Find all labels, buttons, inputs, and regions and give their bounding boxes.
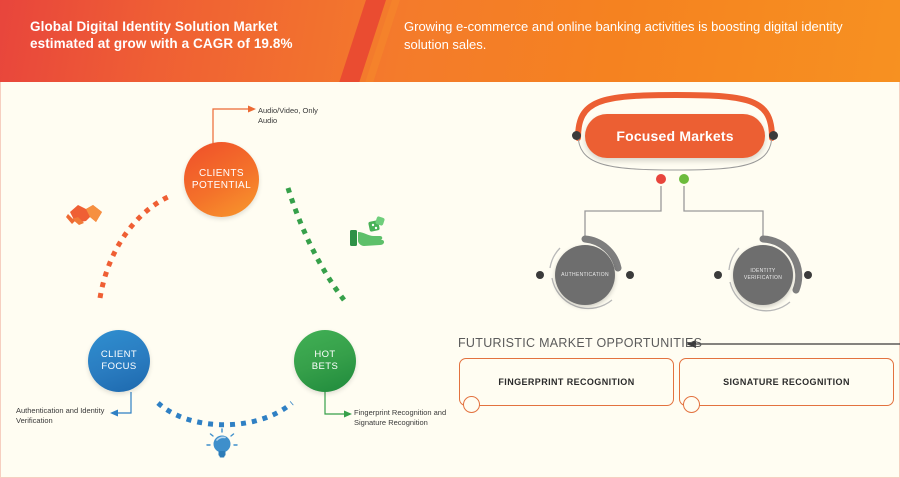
node-hot-bets[interactable]: HOT BETS bbox=[294, 330, 356, 392]
handshake-icon bbox=[66, 205, 102, 225]
orange-dotted-arc bbox=[100, 196, 170, 298]
futuristic-knob-signature bbox=[683, 396, 700, 413]
futuristic-arrow bbox=[686, 340, 900, 348]
node-client-focus-line1: CLIENT bbox=[101, 349, 137, 361]
red-dot bbox=[656, 174, 666, 184]
futuristic-title: FUTURISTIC MARKET OPPORTUNITIES bbox=[458, 336, 702, 350]
green-dot bbox=[679, 174, 689, 184]
node-hot-bets-line1: HOT bbox=[312, 349, 338, 361]
futuristic-box-fingerprint[interactable]: FINGERPRINT RECOGNITION bbox=[459, 358, 674, 406]
label-fingerprint-signature: Fingerprint Recognition and Signature Re… bbox=[354, 408, 464, 428]
label-authentication-identity: Authentication and Identity Verification bbox=[16, 406, 108, 426]
focused-markets-pill[interactable]: Focused Markets bbox=[585, 114, 765, 158]
node-authentication[interactable]: AUTHENTICATION bbox=[548, 238, 622, 312]
identity-verification-right-dot bbox=[804, 271, 812, 279]
green-dotted-arc bbox=[288, 188, 344, 300]
futuristic-box-signature[interactable]: SIGNATURE RECOGNITION bbox=[679, 358, 894, 406]
authentication-right-dot bbox=[626, 271, 634, 279]
blue-dotted-arc bbox=[158, 403, 292, 425]
authentication-label: AUTHENTICATION bbox=[555, 245, 615, 305]
infographic-page: Global Digital Identity Solution Market … bbox=[0, 0, 900, 478]
node-clients-potential-line2: POTENTIAL bbox=[192, 180, 251, 192]
identity-verification-line1: IDENTITY bbox=[750, 268, 775, 274]
label-audio-video: Audio/Video, Only Audio bbox=[258, 106, 338, 126]
node-identity-verification[interactable]: IDENTITY VERIFICATION bbox=[726, 238, 800, 312]
lightbulb-icon bbox=[207, 429, 237, 458]
focused-markets-left-dot bbox=[572, 131, 581, 140]
identity-verification-left-dot bbox=[714, 271, 722, 279]
connector-hotbets-fingerprint bbox=[325, 392, 352, 418]
node-hot-bets-line2: BETS bbox=[312, 361, 338, 373]
hand-money-icon bbox=[350, 216, 385, 246]
identity-verification-line2: VERIFICATION bbox=[744, 275, 782, 281]
identity-verification-label: IDENTITY VERIFICATION bbox=[733, 245, 793, 305]
connector-clientfocus-auth bbox=[110, 392, 131, 417]
futuristic-knob-fingerprint bbox=[463, 396, 480, 413]
node-client-focus[interactable]: CLIENT FOCUS bbox=[88, 330, 150, 392]
node-client-focus-line2: FOCUS bbox=[101, 361, 137, 373]
node-clients-potential[interactable]: CLIENTS POTENTIAL bbox=[184, 142, 259, 217]
node-clients-potential-line1: CLIENTS bbox=[192, 168, 251, 180]
focused-markets-right-dot bbox=[769, 131, 778, 140]
focused-markets-branch bbox=[585, 174, 763, 238]
focused-markets-group: Focused Markets bbox=[572, 108, 778, 158]
authentication-left-dot bbox=[536, 271, 544, 279]
